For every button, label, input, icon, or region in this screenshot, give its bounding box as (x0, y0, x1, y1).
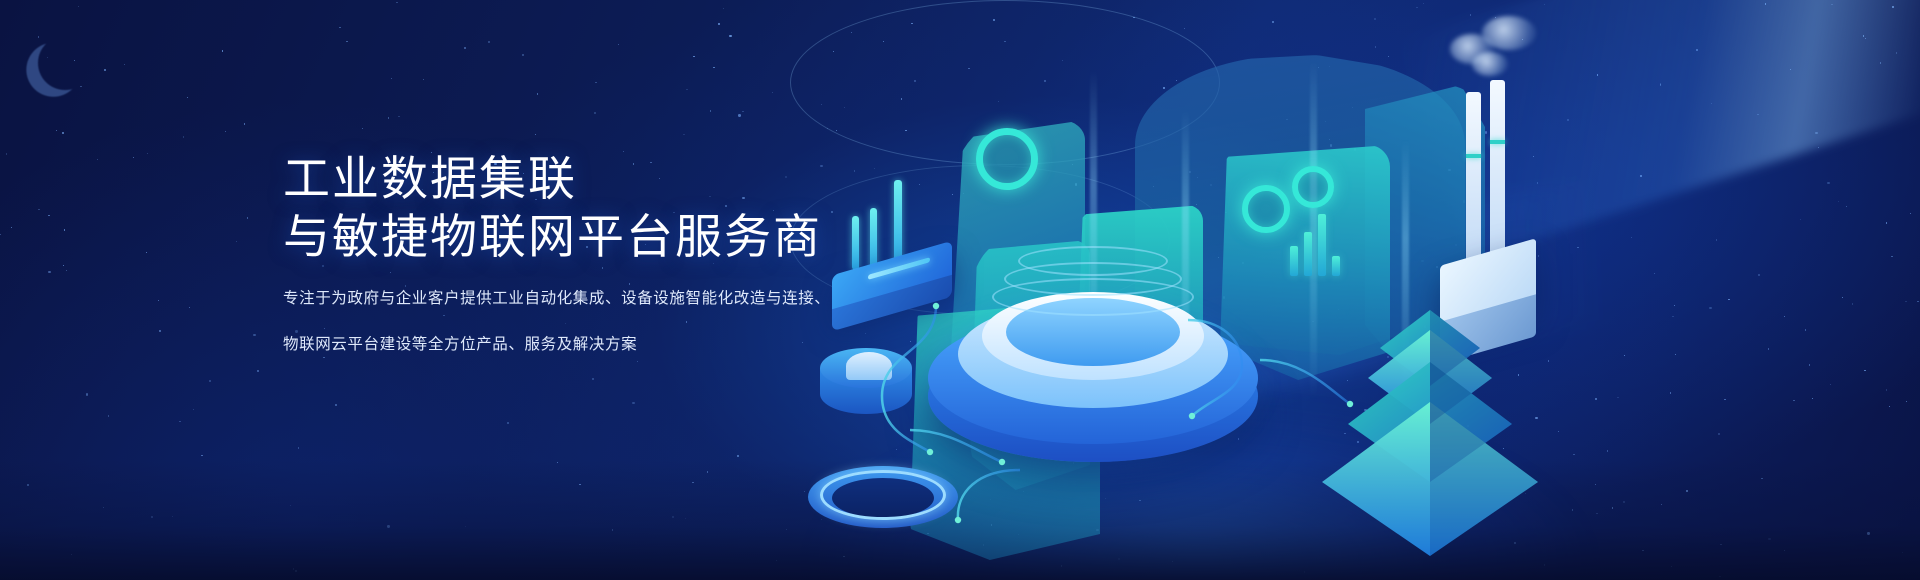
bar-chart-bar-2 (1304, 232, 1312, 276)
light-column-d (1402, 140, 1409, 420)
smoke-puff-2 (1482, 16, 1536, 50)
subtitle-line-1: 专注于为政府与企业客户提供工业自动化集成、设备设施智能化改造与连接、 (283, 286, 903, 312)
hero-copy: 工业数据集联 与敏捷物联网平台服务商 专注于为政府与企业客户提供工业自动化集成、… (283, 150, 903, 358)
bar-chart-bar-3 (1318, 214, 1326, 276)
light-column-c (1310, 60, 1317, 400)
subtitle-line-2: 物联网云平台建设等全方位产品、服务及解决方案 (283, 332, 903, 358)
smoke-puff-3 (1472, 52, 1508, 76)
crescent-moon-icon (33, 31, 97, 95)
hero-banner: 工业数据集联 与敏捷物联网平台服务商 专注于为政府与企业客户提供工业自动化集成、… (0, 0, 1920, 580)
bar-chart-bar-1 (1290, 246, 1298, 276)
disc-ripple-3 (992, 278, 1194, 316)
factory-chimney-right (1490, 80, 1505, 264)
ring-platform-highlight (820, 470, 946, 520)
bar-chart-bar-4 (1332, 256, 1340, 276)
headline-line-1: 工业数据集联 (283, 150, 903, 208)
glow-ring-small-b-icon (1292, 166, 1334, 208)
illustration-scene (790, 0, 1920, 580)
glow-ring-small-a-icon (1242, 185, 1290, 233)
glow-ring-large-icon (976, 128, 1038, 190)
factory-chimney-left (1466, 92, 1481, 264)
headline-line-2: 与敏捷物联网平台服务商 (283, 208, 903, 266)
